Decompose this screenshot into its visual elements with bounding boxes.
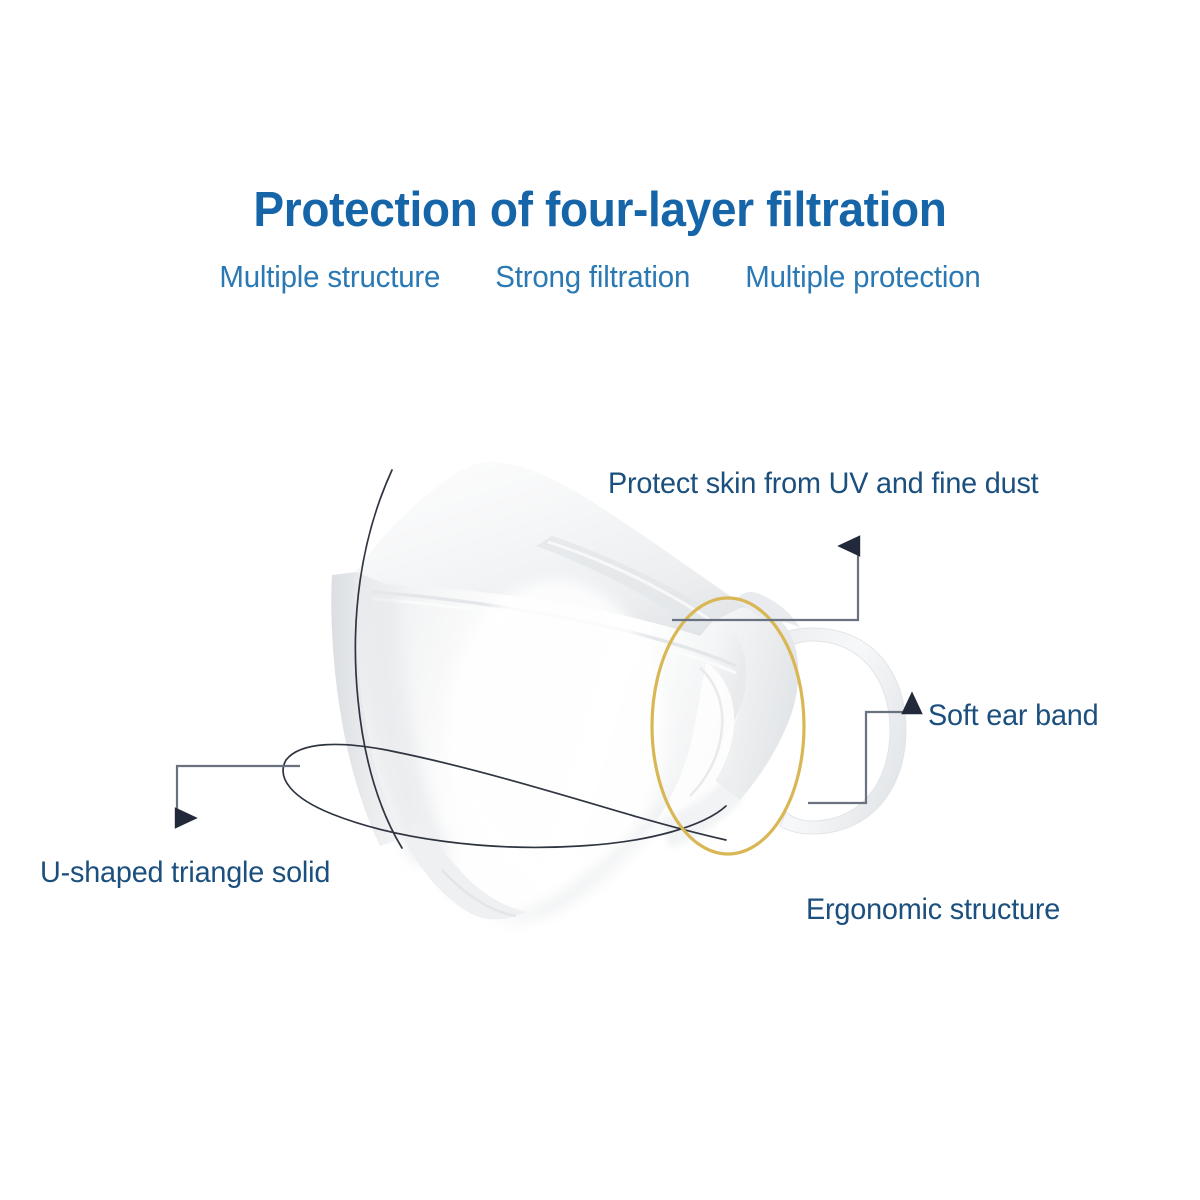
callout-label-ergonomic-structure: Ergonomic structure [806,893,1060,927]
callout-label-u-shaped-triangle-solid: U-shaped triangle solid [40,856,330,890]
callout-label-soft-ear-band: Soft ear band [928,699,1098,733]
callout-label-uv: Protect skin from UV and fine dust [608,467,1038,501]
infographic-canvas: Protection of four-layer filtration Mult… [0,0,1200,1200]
mask-illustration [0,0,1200,1200]
leader-line-ushape [177,766,300,818]
